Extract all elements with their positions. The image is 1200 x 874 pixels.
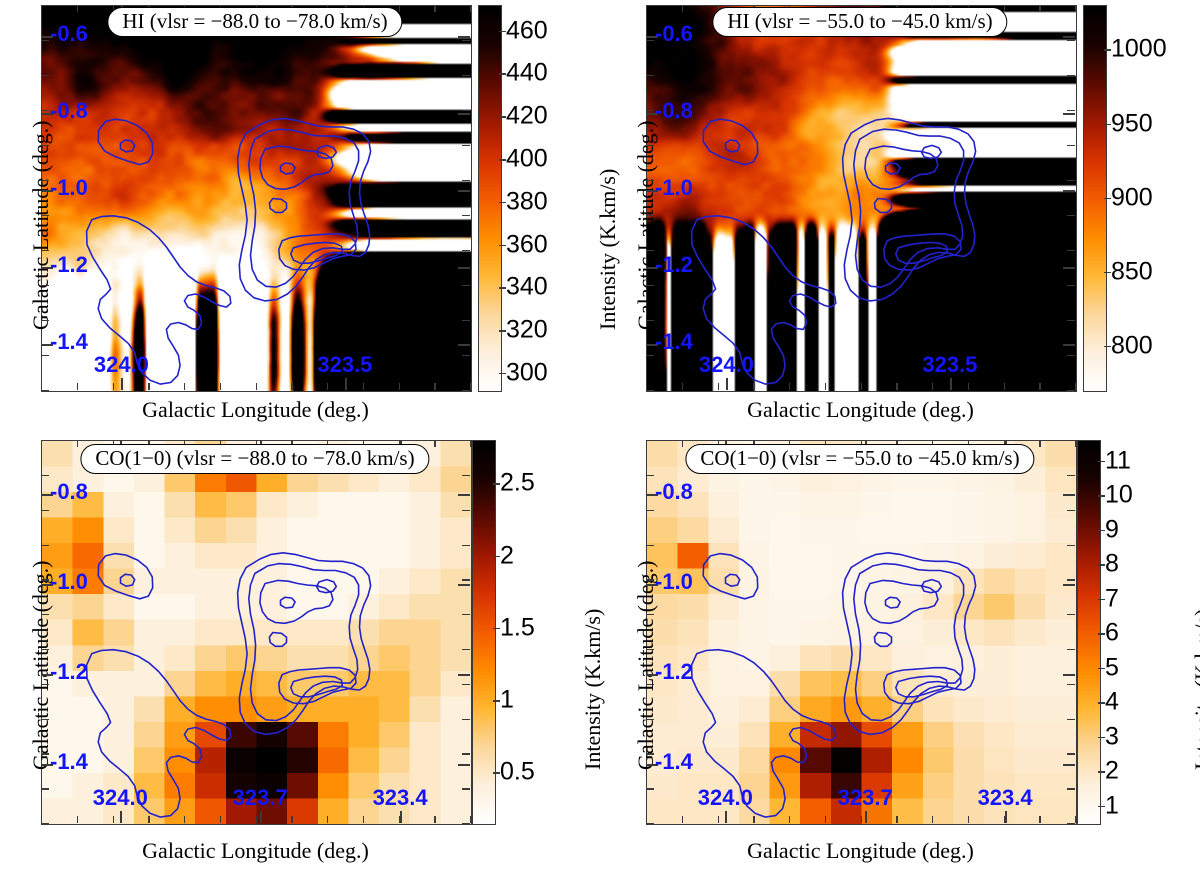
major-tick-x bbox=[120, 811, 122, 823]
minor-tick-top bbox=[470, 5, 471, 12]
minor-tick-top bbox=[1075, 440, 1076, 447]
minor-tick-bottom bbox=[789, 816, 790, 823]
minor-tick-bottom bbox=[861, 383, 862, 390]
colorbar-hi-blueshifted bbox=[478, 5, 502, 392]
minor-tick-bottom bbox=[932, 383, 933, 390]
ytick-label: -0.8 bbox=[655, 479, 693, 505]
minor-tick-left bbox=[41, 75, 49, 76]
ytick-label: -1.0 bbox=[50, 175, 88, 201]
minor-tick-right bbox=[1067, 285, 1075, 286]
minor-tick-right bbox=[1067, 579, 1075, 580]
colorbar-title-co-local: Intensity (K.km/s) bbox=[1190, 609, 1200, 770]
major-tick-x bbox=[726, 378, 728, 390]
colorbar-tick-label: 460 bbox=[506, 16, 548, 45]
colorbar-tick-label: 420 bbox=[506, 102, 548, 131]
colorbar-tick-label: 4 bbox=[1105, 688, 1119, 717]
major-tick-y-right bbox=[1063, 764, 1075, 766]
minor-tick-bottom bbox=[363, 816, 364, 823]
minor-tick-right bbox=[462, 5, 470, 6]
colorbar-tick bbox=[493, 483, 500, 485]
major-tick-y-right bbox=[1063, 113, 1075, 115]
minor-tick-bottom bbox=[434, 383, 435, 390]
colorbar-tick bbox=[499, 159, 506, 161]
panel-title-co-local: CO(1−0) (vlsr = −55.0 to −45.0 km/s) bbox=[685, 444, 1034, 474]
major-tick-y-right bbox=[458, 584, 470, 586]
colorbar-tick-label: 7 bbox=[1105, 584, 1119, 613]
minor-tick-bottom bbox=[113, 383, 114, 390]
minor-tick-left bbox=[646, 788, 654, 789]
contour-overlay-hi-local bbox=[647, 6, 1076, 391]
minor-tick-right bbox=[462, 285, 470, 286]
colorbar-tick-label: 380 bbox=[506, 187, 548, 216]
colorbar-tick-label: 900 bbox=[1111, 183, 1153, 212]
major-tick-y-right bbox=[1063, 267, 1075, 269]
minor-tick-bottom bbox=[753, 816, 754, 823]
contour-path-1 bbox=[726, 140, 740, 152]
minor-tick-left bbox=[646, 823, 654, 824]
colorbar-tick bbox=[1098, 461, 1105, 463]
contour-path-8 bbox=[269, 199, 286, 213]
ytick-label: -1.0 bbox=[655, 569, 693, 595]
major-tick-y-right bbox=[458, 267, 470, 269]
yaxis-title-hi-blueshifted: Galactic Latitude (deg.) bbox=[28, 120, 54, 330]
colorbar-tick bbox=[1104, 346, 1111, 348]
contour-path-8 bbox=[874, 633, 891, 647]
colorbar-co-blueshifted bbox=[472, 440, 496, 825]
major-tick-y-right bbox=[1063, 674, 1075, 676]
minor-tick-left bbox=[41, 649, 49, 650]
minor-tick-left bbox=[646, 440, 654, 441]
colorbar-tick-label: 1 bbox=[1105, 791, 1119, 820]
minor-tick-left bbox=[646, 180, 654, 181]
contour-path-5 bbox=[260, 580, 333, 623]
colorbar-tick bbox=[493, 556, 500, 558]
minor-tick-bottom bbox=[148, 816, 149, 823]
minor-tick-top bbox=[399, 5, 400, 12]
colorbar-tick bbox=[1098, 633, 1105, 635]
minor-tick-left bbox=[41, 475, 49, 476]
ytick-label: -1.4 bbox=[655, 749, 693, 775]
minor-tick-bottom bbox=[1039, 383, 1040, 390]
minor-tick-left bbox=[646, 753, 654, 754]
minor-tick-top bbox=[77, 440, 78, 447]
minor-tick-left bbox=[41, 355, 49, 356]
contour-path-6 bbox=[886, 597, 901, 608]
minor-tick-right bbox=[1067, 5, 1075, 6]
minor-tick-bottom bbox=[434, 816, 435, 823]
minor-tick-bottom bbox=[789, 383, 790, 390]
colorbar-tick bbox=[1098, 530, 1105, 532]
yaxis-title-hi-local: Galactic Latitude (deg.) bbox=[633, 120, 659, 330]
minor-tick-right bbox=[1067, 684, 1075, 685]
minor-tick-left bbox=[41, 5, 49, 6]
colorbar-tick bbox=[499, 373, 506, 375]
xtick-label: 324.0 bbox=[93, 785, 148, 811]
minor-tick-left bbox=[646, 40, 654, 41]
contour-path-6 bbox=[281, 163, 296, 174]
minor-tick-left bbox=[646, 145, 654, 146]
minor-tick-bottom bbox=[861, 816, 862, 823]
minor-tick-left bbox=[41, 180, 49, 181]
minor-tick-right bbox=[462, 823, 470, 824]
contour-path-0 bbox=[703, 554, 758, 599]
colorbar-tick-label: 340 bbox=[506, 273, 548, 302]
ytick-label: -1.2 bbox=[50, 252, 88, 278]
major-tick-y-right bbox=[458, 113, 470, 115]
minor-tick-bottom bbox=[399, 383, 400, 390]
major-tick-x bbox=[121, 378, 123, 390]
contour-path-9 bbox=[279, 668, 356, 704]
minor-tick-left bbox=[646, 5, 654, 6]
minor-tick-left bbox=[41, 788, 49, 789]
minor-tick-bottom bbox=[327, 816, 328, 823]
colorbar-tick bbox=[493, 700, 500, 702]
colorbar-title-hi-blueshifted: Intensity (K.km/s) bbox=[595, 169, 621, 330]
minor-tick-left bbox=[41, 110, 49, 111]
ytick-label: -1.2 bbox=[50, 659, 88, 685]
minor-tick-bottom bbox=[825, 816, 826, 823]
contour-path-1 bbox=[121, 140, 135, 152]
major-tick-x bbox=[950, 378, 952, 390]
major-tick-x bbox=[260, 811, 262, 823]
colorbar-tick-label: 300 bbox=[506, 358, 548, 387]
minor-tick-bottom bbox=[220, 383, 221, 390]
major-tick-x bbox=[865, 811, 867, 823]
minor-tick-right bbox=[462, 320, 470, 321]
minor-tick-right bbox=[462, 215, 470, 216]
colorbar-tick bbox=[1104, 124, 1111, 126]
colorbar-tick bbox=[1098, 737, 1105, 739]
minor-tick-left bbox=[646, 510, 654, 511]
minor-tick-bottom bbox=[470, 383, 471, 390]
colorbar-tick bbox=[1098, 564, 1105, 566]
contour-path-9 bbox=[279, 234, 356, 270]
xaxis-title-co-local: Galactic Longitude (deg.) bbox=[646, 838, 1075, 864]
minor-tick-left bbox=[41, 390, 49, 391]
xtick-label: 323.7 bbox=[838, 785, 893, 811]
xtick-label: 324.0 bbox=[699, 352, 754, 378]
minor-tick-bottom bbox=[41, 816, 42, 823]
panel-title-hi-blueshifted: HI (vlsr = −88.0 to −78.0 km/s) bbox=[107, 7, 402, 37]
minor-tick-left bbox=[646, 684, 654, 685]
colorbar-tick bbox=[1104, 198, 1111, 200]
minor-tick-bottom bbox=[682, 816, 683, 823]
minor-tick-right bbox=[462, 684, 470, 685]
ytick-label: -1.4 bbox=[50, 749, 88, 775]
xaxis-title-hi-local: Galactic Longitude (deg.) bbox=[646, 397, 1075, 423]
minor-tick-bottom bbox=[291, 816, 292, 823]
minor-tick-left bbox=[646, 320, 654, 321]
colorbar-tick-label: 8 bbox=[1105, 550, 1119, 579]
ytick-label: -1.0 bbox=[655, 175, 693, 201]
minor-tick-bottom bbox=[896, 816, 897, 823]
minor-tick-top bbox=[1075, 5, 1076, 12]
colorbar-tick bbox=[1098, 668, 1105, 670]
contour-path-3 bbox=[238, 118, 371, 301]
minor-tick-bottom bbox=[968, 816, 969, 823]
contour-path-3 bbox=[238, 553, 371, 735]
colorbar-tick bbox=[499, 330, 506, 332]
xaxis-title-hi-blueshifted: Galactic Longitude (deg.) bbox=[41, 397, 470, 423]
colorbar-tick-label: 2 bbox=[500, 541, 514, 570]
minor-tick-right bbox=[1067, 649, 1075, 650]
minor-tick-bottom bbox=[470, 816, 471, 823]
minor-tick-bottom bbox=[1075, 816, 1076, 823]
major-tick-y-right bbox=[458, 764, 470, 766]
minor-tick-right bbox=[462, 250, 470, 251]
minor-tick-right bbox=[462, 40, 470, 41]
minor-tick-right bbox=[1067, 390, 1075, 391]
xtick-label: 323.4 bbox=[373, 785, 428, 811]
minor-tick-bottom bbox=[1075, 383, 1076, 390]
minor-tick-bottom bbox=[825, 383, 826, 390]
minor-tick-left bbox=[646, 579, 654, 580]
contour-overlay-co-blueshifted bbox=[42, 441, 471, 824]
contour-overlay-co-local bbox=[647, 441, 1076, 824]
minor-tick-right bbox=[462, 788, 470, 789]
minor-tick-top bbox=[682, 440, 683, 447]
major-tick-x bbox=[400, 811, 402, 823]
map-image-hi-local[interactable] bbox=[646, 5, 1077, 392]
minor-tick-right bbox=[1067, 440, 1075, 441]
ytick-label: -0.8 bbox=[50, 98, 88, 124]
colorbar-tick-label: 800 bbox=[1111, 331, 1153, 360]
contour-path-1 bbox=[121, 574, 135, 586]
major-tick-x bbox=[725, 811, 727, 823]
minor-tick-bottom bbox=[1039, 816, 1040, 823]
minor-tick-bottom bbox=[220, 816, 221, 823]
major-tick-x bbox=[1005, 811, 1007, 823]
ytick-label: -1.0 bbox=[50, 569, 88, 595]
contour-path-3 bbox=[843, 553, 976, 735]
colorbar-tick bbox=[1104, 272, 1111, 274]
minor-tick-bottom bbox=[256, 816, 257, 823]
minor-tick-right bbox=[462, 355, 470, 356]
colorbar-tick-label: 9 bbox=[1105, 515, 1119, 544]
colorbar-tick-label: 1 bbox=[500, 686, 514, 715]
contour-path-6 bbox=[886, 163, 901, 174]
colorbar-tick-label: 11 bbox=[1105, 446, 1131, 475]
minor-tick-right bbox=[462, 510, 470, 511]
minor-tick-bottom bbox=[896, 383, 897, 390]
minor-tick-bottom bbox=[77, 816, 78, 823]
contour-path-5 bbox=[260, 146, 333, 189]
minor-tick-left bbox=[646, 614, 654, 615]
minor-tick-right bbox=[1067, 40, 1075, 41]
colorbar-tick-label: 1000 bbox=[1111, 35, 1167, 64]
colorbar-tick bbox=[499, 31, 506, 33]
major-tick-y-right bbox=[458, 494, 470, 496]
minor-tick-left bbox=[41, 250, 49, 251]
contour-path-9 bbox=[884, 668, 961, 704]
minor-tick-left bbox=[41, 684, 49, 685]
minor-tick-right bbox=[1067, 75, 1075, 76]
colorbar-tick bbox=[493, 772, 500, 774]
figure-root: HI (vlsr = −88.0 to −78.0 km/s) Galactic… bbox=[0, 0, 1200, 874]
contour-path-0 bbox=[703, 119, 758, 164]
minor-tick-right bbox=[462, 75, 470, 76]
minor-tick-left bbox=[41, 285, 49, 286]
minor-tick-right bbox=[462, 719, 470, 720]
minor-tick-left bbox=[41, 320, 49, 321]
colorbar-tick bbox=[1098, 702, 1105, 704]
minor-tick-bottom bbox=[184, 816, 185, 823]
colorbar-tick-label: 0.5 bbox=[500, 758, 535, 787]
minor-tick-bottom bbox=[682, 383, 683, 390]
colorbar-tick-label: 1.5 bbox=[500, 613, 535, 642]
minor-tick-right bbox=[1067, 614, 1075, 615]
minor-tick-right bbox=[1067, 545, 1075, 546]
ytick-label: -0.8 bbox=[50, 479, 88, 505]
contour-path-0 bbox=[98, 119, 153, 164]
minor-tick-right bbox=[1067, 719, 1075, 720]
minor-tick-right bbox=[1067, 180, 1075, 181]
minor-tick-right bbox=[462, 180, 470, 181]
minor-tick-left bbox=[41, 753, 49, 754]
contour-path-0 bbox=[98, 554, 153, 599]
minor-tick-bottom bbox=[77, 383, 78, 390]
ytick-label: -0.6 bbox=[50, 21, 88, 47]
colorbar-tick-label: 400 bbox=[506, 145, 548, 174]
minor-tick-left bbox=[41, 510, 49, 511]
minor-tick-right bbox=[1067, 250, 1075, 251]
xtick-label: 323.5 bbox=[922, 352, 977, 378]
xaxis-title-co-blueshifted: Galactic Longitude (deg.) bbox=[41, 838, 470, 864]
contour-path-8 bbox=[269, 633, 286, 647]
minor-tick-right bbox=[1067, 110, 1075, 111]
ytick-label: -1.2 bbox=[655, 659, 693, 685]
colorbar-tick-label: 6 bbox=[1105, 619, 1119, 648]
contour-path-5 bbox=[865, 146, 938, 189]
colorbar-tick-label: 850 bbox=[1111, 257, 1153, 286]
minor-tick-left bbox=[646, 545, 654, 546]
colorbar-tick-label: 3 bbox=[1105, 722, 1119, 751]
map-image-co-local[interactable] bbox=[646, 440, 1077, 825]
xtick-label: 323.7 bbox=[233, 785, 288, 811]
major-tick-y-right bbox=[458, 190, 470, 192]
major-tick-y-right bbox=[458, 674, 470, 676]
minor-tick-right bbox=[462, 753, 470, 754]
minor-tick-bottom bbox=[718, 816, 719, 823]
minor-tick-right bbox=[1067, 145, 1075, 146]
xtick-label: 323.5 bbox=[317, 352, 372, 378]
minor-tick-right bbox=[1067, 510, 1075, 511]
contour-overlay-hi-blueshifted bbox=[42, 6, 471, 391]
minor-tick-left bbox=[646, 215, 654, 216]
xtick-label: 323.4 bbox=[978, 785, 1033, 811]
minor-tick-right bbox=[1067, 320, 1075, 321]
minor-tick-top bbox=[1004, 5, 1005, 12]
minor-tick-bottom bbox=[291, 383, 292, 390]
minor-tick-bottom bbox=[646, 383, 647, 390]
minor-tick-right bbox=[462, 579, 470, 580]
minor-tick-left bbox=[41, 823, 49, 824]
minor-tick-right bbox=[1067, 355, 1075, 356]
minor-tick-left bbox=[41, 545, 49, 546]
colorbar-title-hi-local: Intensity (K.km/s) bbox=[1196, 169, 1200, 330]
ytick-label: -0.6 bbox=[655, 21, 693, 47]
minor-tick-right bbox=[1067, 823, 1075, 824]
colorbar-tick bbox=[499, 287, 506, 289]
colorbar-tick-label: 360 bbox=[506, 230, 548, 259]
minor-tick-bottom bbox=[184, 383, 185, 390]
ytick-label: -1.4 bbox=[50, 329, 88, 355]
minor-tick-right bbox=[462, 649, 470, 650]
minor-tick-right bbox=[1067, 215, 1075, 216]
minor-tick-right bbox=[1067, 788, 1075, 789]
minor-tick-left bbox=[41, 40, 49, 41]
colorbar-tick-label: 2.5 bbox=[500, 469, 535, 498]
colorbar-tick-label: 5 bbox=[1105, 653, 1119, 682]
colorbar-tick bbox=[1098, 806, 1105, 808]
colorbar-tick bbox=[1098, 599, 1105, 601]
colorbar-tick bbox=[499, 116, 506, 118]
map-image-co-blueshifted[interactable] bbox=[41, 440, 472, 825]
colorbar-tick bbox=[499, 73, 506, 75]
minor-tick-left bbox=[41, 440, 49, 441]
minor-tick-left bbox=[646, 110, 654, 111]
minor-tick-left bbox=[646, 649, 654, 650]
minor-tick-right bbox=[462, 614, 470, 615]
minor-tick-top bbox=[77, 5, 78, 12]
ytick-label: -1.4 bbox=[655, 329, 693, 355]
minor-tick-left bbox=[41, 614, 49, 615]
minor-tick-top bbox=[470, 440, 471, 447]
minor-tick-top bbox=[682, 5, 683, 12]
colorbar-tick-label: 320 bbox=[506, 316, 548, 345]
contour-path-1 bbox=[726, 574, 740, 586]
minor-tick-right bbox=[462, 145, 470, 146]
colorbar-tick bbox=[499, 245, 506, 247]
minor-tick-right bbox=[1067, 475, 1075, 476]
minor-tick-left bbox=[646, 355, 654, 356]
map-image-hi-blueshifted[interactable] bbox=[41, 5, 472, 392]
minor-tick-top bbox=[1039, 440, 1040, 447]
minor-tick-left bbox=[646, 719, 654, 720]
minor-tick-left bbox=[41, 579, 49, 580]
minor-tick-top bbox=[434, 5, 435, 12]
colorbar-tick bbox=[1104, 49, 1111, 51]
minor-tick-left bbox=[41, 145, 49, 146]
minor-tick-bottom bbox=[113, 816, 114, 823]
minor-tick-left bbox=[41, 719, 49, 720]
colorbar-title-co-blueshifted: Intensity (K.km/s) bbox=[580, 609, 606, 770]
major-tick-y-right bbox=[458, 344, 470, 346]
minor-tick-right bbox=[462, 475, 470, 476]
minor-tick-left bbox=[41, 215, 49, 216]
colorbar-tick-label: 950 bbox=[1111, 109, 1153, 138]
ytick-label: -1.2 bbox=[655, 252, 693, 278]
minor-tick-left bbox=[646, 475, 654, 476]
minor-tick-left bbox=[646, 75, 654, 76]
minor-tick-bottom bbox=[1004, 383, 1005, 390]
colorbar-tick bbox=[499, 202, 506, 204]
colorbar-tick-label: 10 bbox=[1105, 481, 1133, 510]
minor-tick-bottom bbox=[41, 383, 42, 390]
minor-tick-left bbox=[646, 250, 654, 251]
major-tick-x bbox=[345, 378, 347, 390]
minor-tick-top bbox=[1039, 5, 1040, 12]
minor-tick-bottom bbox=[148, 383, 149, 390]
panel-title-co-blueshifted: CO(1−0) (vlsr = −88.0 to −78.0 km/s) bbox=[80, 444, 429, 474]
minor-tick-right bbox=[462, 545, 470, 546]
contour-path-6 bbox=[281, 597, 296, 608]
minor-tick-bottom bbox=[256, 383, 257, 390]
minor-tick-bottom bbox=[363, 383, 364, 390]
minor-tick-bottom bbox=[932, 816, 933, 823]
minor-tick-left bbox=[646, 285, 654, 286]
minor-tick-top bbox=[434, 440, 435, 447]
